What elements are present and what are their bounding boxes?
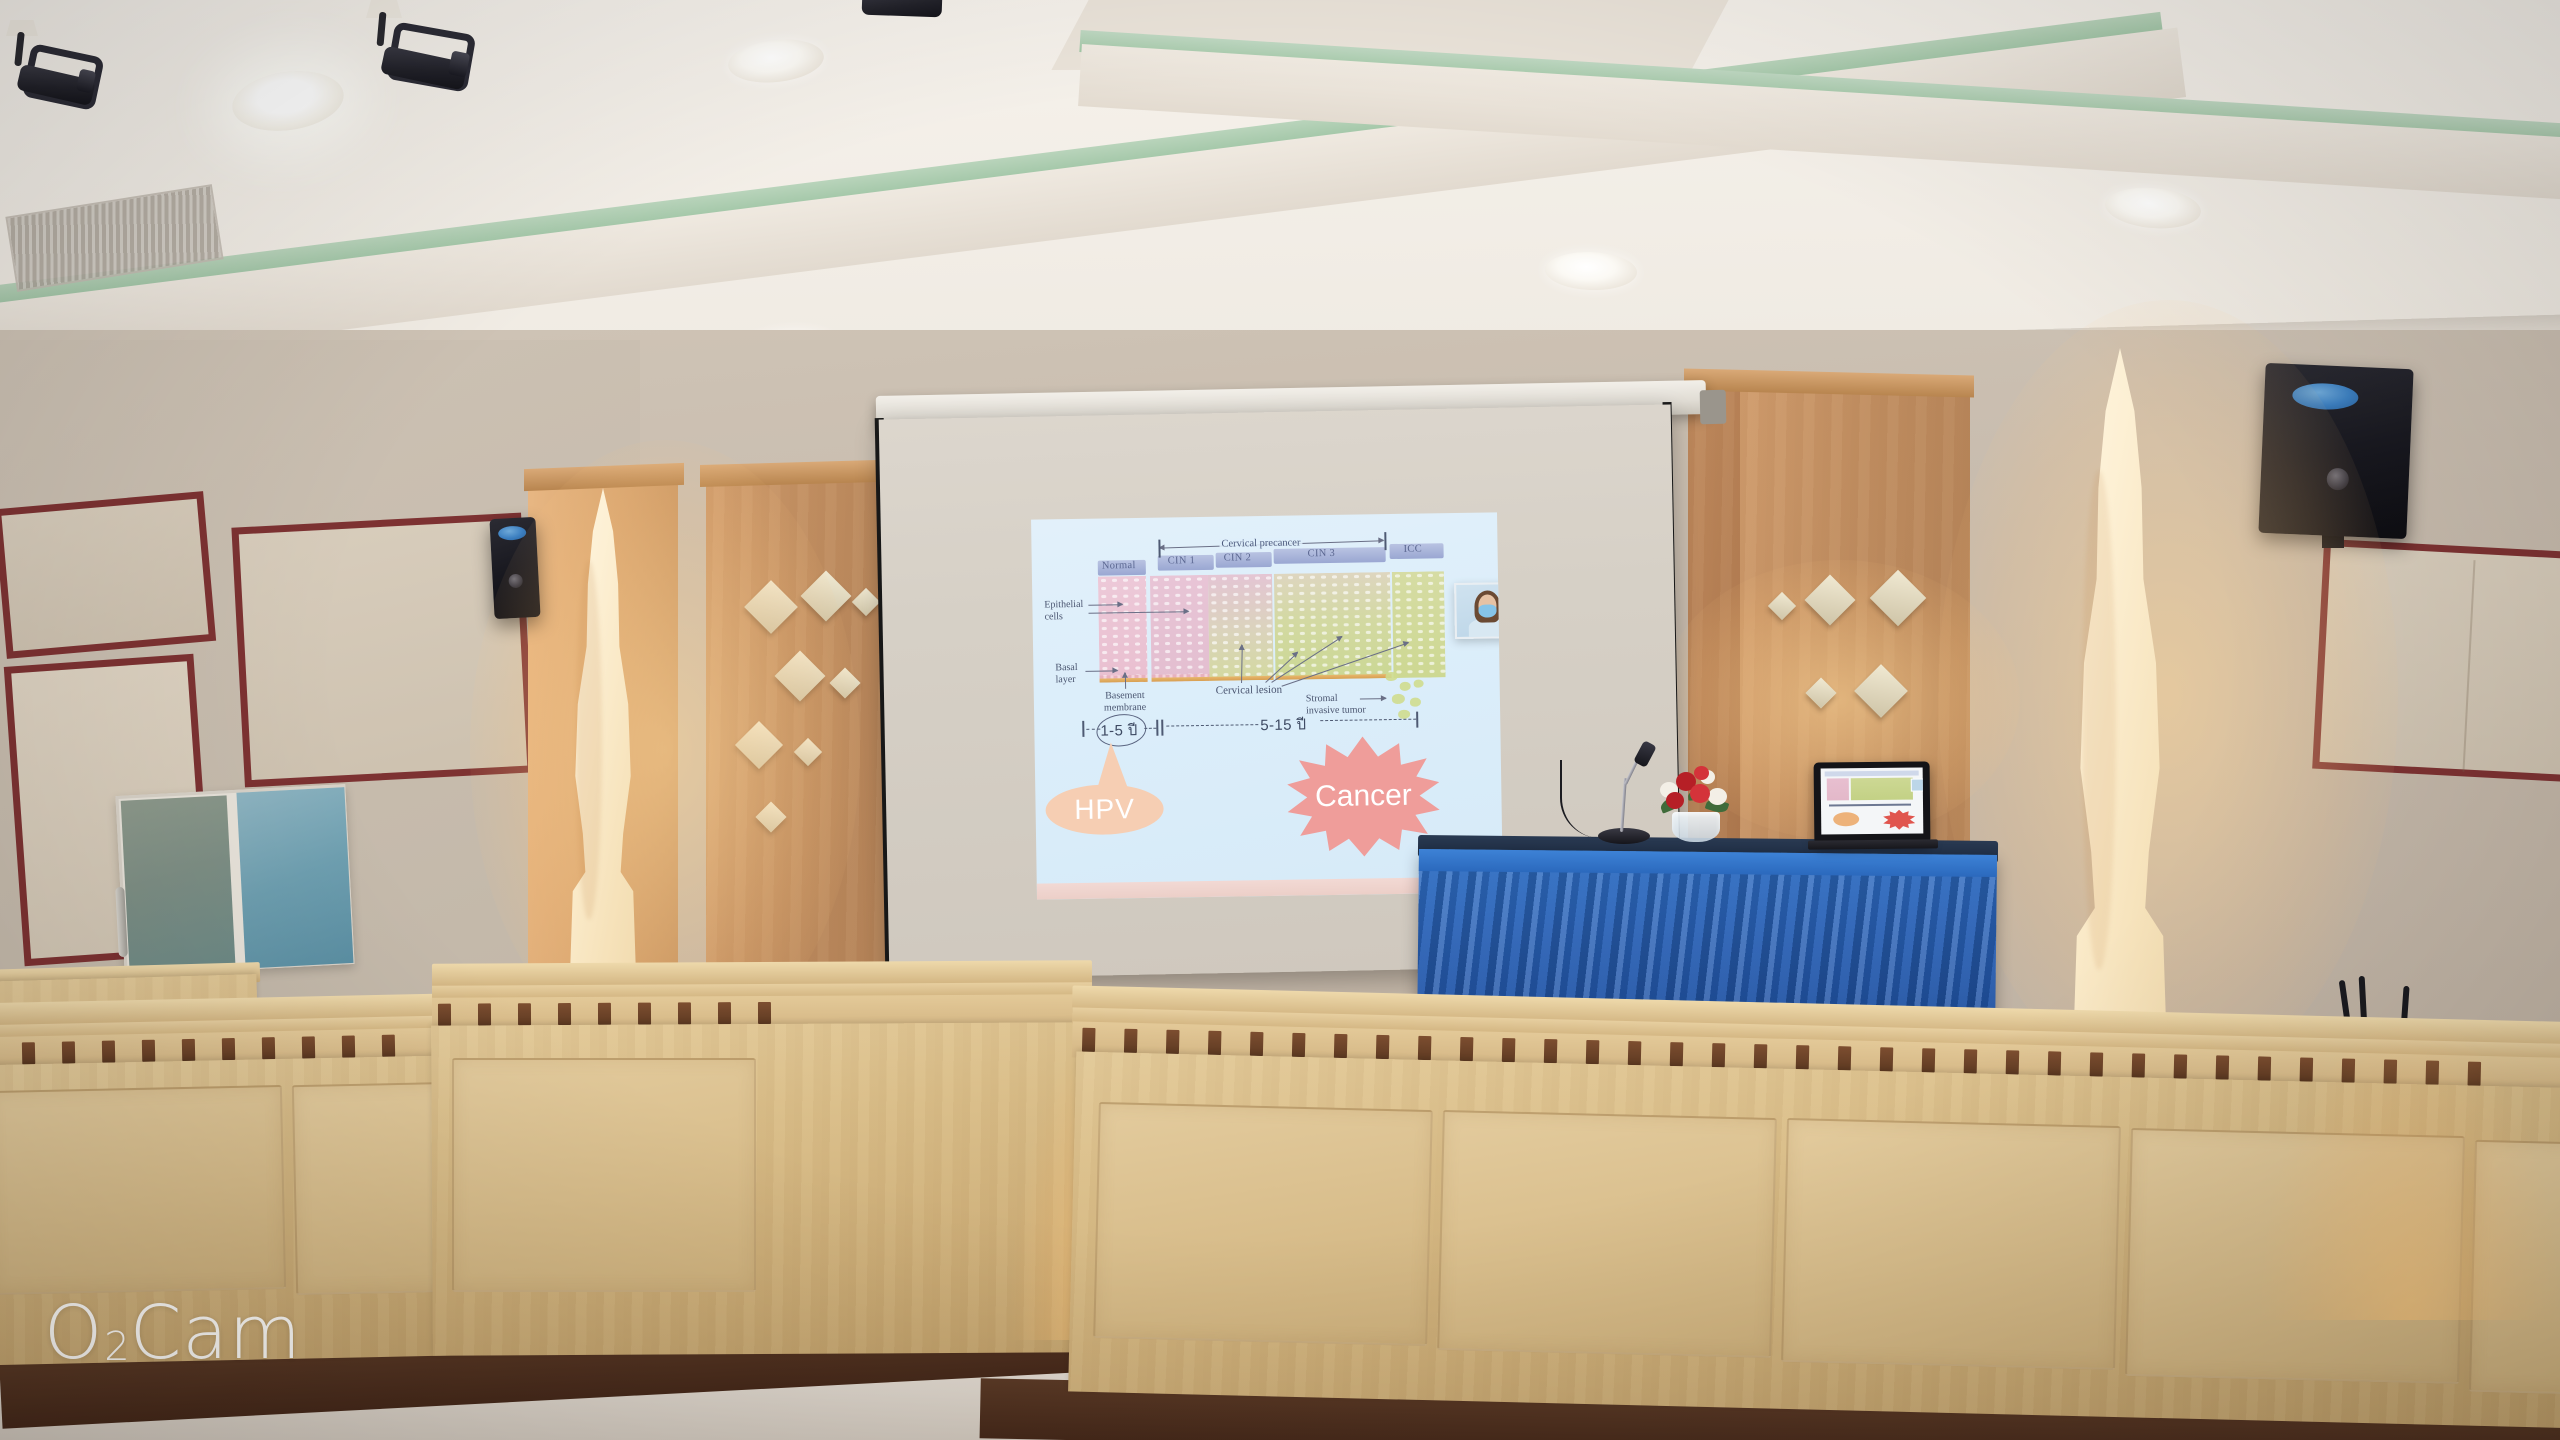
white-flower: [1708, 788, 1727, 805]
watermark-cam: Cam: [130, 1290, 302, 1376]
label-basal-layer: Basal layer: [1055, 662, 1078, 685]
precancer-span-tick-left: [1158, 540, 1160, 558]
basement-membrane-line: [1100, 678, 1148, 683]
wood-panel-diamonds-left: [706, 465, 906, 1001]
wall-panel-upper-left: [231, 513, 534, 788]
laptop-slide-hpv: [1833, 812, 1859, 826]
cell-texture: [1098, 576, 1148, 683]
finial-inner-shade: [2082, 470, 2116, 970]
speaker-brand-label: [2292, 382, 2359, 411]
label-stromal-line2: invasive tumor: [1306, 704, 1366, 716]
label-basement-membrane: Basement membrane: [1104, 690, 1147, 714]
finial-inner-shade: [576, 560, 602, 920]
video-call-overlay[interactable]: [1454, 582, 1503, 639]
screen-housing-end-cap: [1700, 390, 1727, 424]
arrow-basal-layer: [1085, 670, 1117, 672]
label-epithelial-line2: cells: [1044, 611, 1062, 622]
desk-panel: [2125, 1128, 2465, 1384]
stage-label-cin1: CIN 1: [1168, 555, 1196, 566]
ceiling-projector: [862, 0, 952, 32]
cancer-label: Cancer: [1315, 779, 1412, 815]
glass-door[interactable]: [115, 784, 354, 976]
label-basement-line1: Basement: [1105, 690, 1145, 702]
watermark-o: O: [44, 1290, 103, 1376]
timeline-tick-end: [1416, 712, 1418, 728]
arrow-basement-membrane: [1125, 673, 1126, 689]
stromal-invasive-cell: [1392, 694, 1405, 704]
wall-speaker-left: [489, 517, 540, 619]
timeline-dash-d: [1320, 719, 1416, 722]
wall-speaker: [2258, 363, 2413, 539]
desk-panel: [1093, 1102, 1433, 1346]
basement-membrane-line: [1152, 677, 1210, 682]
stromal-invasive-cell: [1385, 672, 1397, 681]
desk-panel: [1781, 1118, 2121, 1370]
label-epithelial-line1: Epithelial: [1044, 599, 1083, 611]
timeline-highlight-ellipse: [1095, 711, 1148, 749]
wall-panel-upper-left-2: [0, 491, 216, 659]
wall-panel-right: [2312, 539, 2560, 783]
o2cam-watermark: O2Cam: [44, 1290, 302, 1376]
label-basement-line2: membrane: [1104, 701, 1146, 713]
laptop-slide-videocall: [1911, 778, 1924, 791]
stromal-invasive-cell: [1410, 698, 1421, 707]
stromal-invasive-cell: [1414, 680, 1424, 688]
laptop-slide-timeline: [1829, 804, 1911, 806]
desk-panel: [2469, 1140, 2560, 1396]
laptop-slide-epi-pink: [1827, 778, 1849, 800]
label-epithelial-cells: Epithelial cells: [1044, 599, 1083, 623]
timeline-late-label: 5-15 ปี: [1260, 712, 1306, 737]
label-stromal-tumor: Stromal invasive tumor: [1306, 692, 1366, 716]
laptop-slide-header: [1825, 771, 1919, 777]
red-rose: [1694, 766, 1709, 780]
epithelium-cin3: [1274, 572, 1392, 680]
stromal-invasive-cell: [1400, 682, 1411, 691]
stage-label-icc: ICC: [1403, 544, 1422, 555]
projector-body: [862, 0, 943, 17]
basement-membrane-line: [1276, 674, 1392, 680]
label-basal-line2: layer: [1055, 674, 1075, 685]
desk-panel: [0, 1085, 286, 1295]
epithelium-normal: [1098, 576, 1148, 683]
desk-panel: [1437, 1110, 1777, 1358]
arrow-stromal-tumor: [1360, 698, 1386, 700]
laptop-slide-epi-green: [1851, 778, 1913, 801]
conference-hall-photo: Normal CIN 1 CIN 2 CIN 3 ICC Cervical pr…: [0, 0, 2560, 1440]
flower-vase: [1672, 812, 1720, 842]
table-skirt-top-band: [1419, 849, 1997, 877]
cell-texture: [1392, 571, 1446, 678]
timeline-tick-start: [1082, 721, 1084, 737]
epithelium-icc: [1392, 571, 1446, 678]
spotlight-stem: [377, 12, 387, 46]
laptop-base: [1808, 839, 1938, 849]
epithelium-diagram: [1098, 571, 1446, 682]
precancer-span-tick-right: [1384, 532, 1386, 550]
hpv-callout-bubble: HPV: [1045, 784, 1164, 836]
stage-label-cin2: CIN 2: [1224, 552, 1252, 563]
ceiling-spotlight-right: [352, 0, 482, 120]
red-rose: [1690, 784, 1710, 803]
wood-grain-texture: [706, 465, 906, 1001]
speaker-driver: [508, 574, 523, 589]
door-glass-left: [121, 795, 236, 972]
speaker-brand-label: [498, 525, 527, 540]
laptop-slide-cancer: [1883, 810, 1915, 830]
spotlight-stem: [14, 32, 25, 67]
cell-texture: [1150, 575, 1210, 682]
timeline-dash-b: [1144, 728, 1156, 729]
stromal-invasive-cell: [1398, 710, 1410, 719]
stage-label-cin3: CIN 3: [1308, 548, 1336, 559]
watermark-2: 2: [104, 1324, 130, 1370]
label-cervical-lesion: Cervical lesion: [1216, 684, 1282, 698]
label-basal-line1: Basal: [1055, 662, 1077, 673]
epithelium-cin1: [1150, 575, 1210, 682]
speaker-driver: [2326, 468, 2349, 491]
ceiling-spotlight-left: [0, 20, 110, 130]
cell-texture: [1274, 572, 1392, 680]
laptop-screen: [1821, 767, 1924, 834]
red-rose: [1666, 792, 1684, 809]
door-glass-right: [236, 787, 353, 968]
label-stromal-line1: Stromal: [1306, 693, 1338, 704]
presenter-laptop[interactable]: [1814, 761, 1931, 844]
stage-label-normal: Normal: [1102, 560, 1136, 572]
timeline-tick-mid-2: [1161, 720, 1163, 736]
precancer-label: Cervical precancer: [1219, 537, 1302, 549]
hpv-label: HPV: [1074, 793, 1135, 826]
timeline-tick-mid-1: [1156, 720, 1158, 736]
timeline-dash-c: [1166, 724, 1258, 726]
desk-panel: [452, 1058, 756, 1292]
